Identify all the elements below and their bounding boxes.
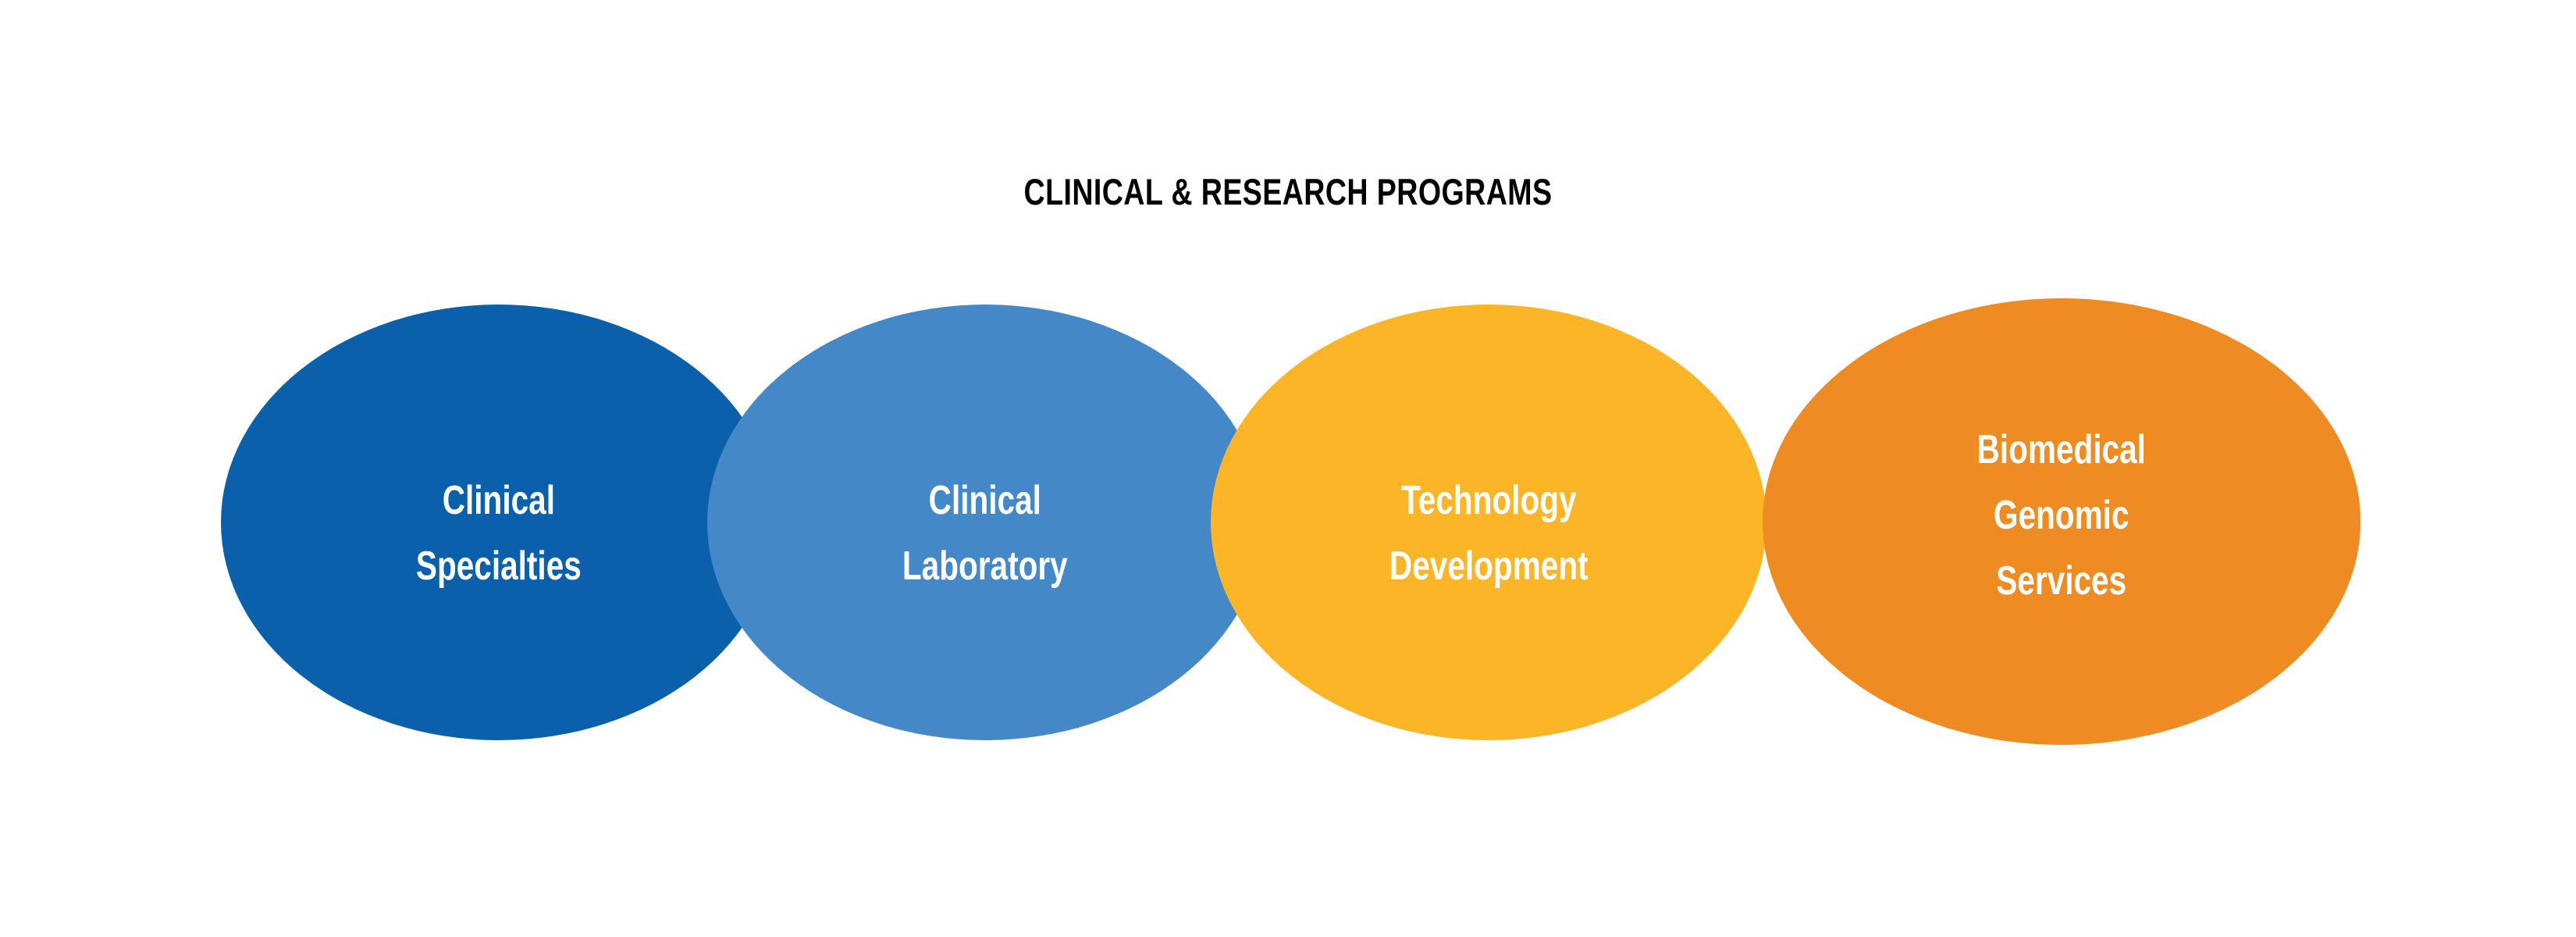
ellipse-label-biomedical-genomic-services: Biomedical Genomic Services (1977, 417, 2146, 614)
ellipse-label-line-1: Technology (1389, 468, 1589, 533)
ellipse-label-line-1: Clinical (902, 468, 1068, 533)
ellipse-clinical-specialties[interactable]: Clinical Specialties (221, 305, 777, 740)
ellipse-label-clinical-specialties: Clinical Specialties (416, 468, 582, 599)
ellipse-label-line-2: Laboratory (902, 533, 1068, 599)
ellipse-label-line-1: Clinical (416, 468, 582, 533)
diagram-canvas: CLINICAL & RESEARCH PROGRAMS Clinical Sp… (0, 0, 2576, 937)
ellipse-technology-development[interactable]: Technology Development (1211, 305, 1767, 740)
ellipse-label-clinical-laboratory: Clinical Laboratory (902, 468, 1068, 599)
ellipse-clinical-laboratory[interactable]: Clinical Laboratory (707, 305, 1263, 740)
ellipse-label-line-3: Services (1977, 548, 2146, 614)
ellipse-cluster: Clinical Specialties Clinical Laboratory… (0, 0, 2576, 937)
ellipse-biomedical-genomic-services[interactable]: Biomedical Genomic Services (1763, 298, 2361, 745)
ellipse-label-line-2: Development (1389, 533, 1589, 599)
ellipse-label-line-2: Specialties (416, 533, 582, 599)
ellipse-label-technology-development: Technology Development (1389, 468, 1589, 599)
ellipse-label-line-2: Genomic (1977, 483, 2146, 548)
ellipse-label-line-1: Biomedical (1977, 417, 2146, 483)
